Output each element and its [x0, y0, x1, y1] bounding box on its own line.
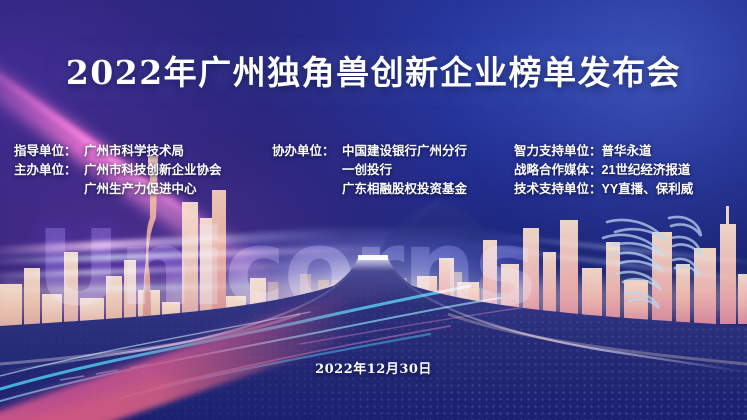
sponsor-label: 战略合作媒体： [514, 161, 602, 180]
sponsor-label: 技术支持单位： [514, 180, 602, 199]
sponsor-column-organizers: 指导单位： 广州市科学技术局 主办单位： 广州市科技创新企业协会 广州生产力促进… [14, 142, 272, 199]
sponsor-value: 普华永道 [602, 142, 652, 161]
poster-canvas: Unicorns Unicorns [0, 0, 747, 420]
sponsor-row: 广东相融股权投资基金 [272, 180, 514, 199]
sponsor-row: 技术支持单位： YY直播、保利威 [514, 180, 693, 199]
sponsor-column-co-organizers: 协办单位： 中国建设银行广州分行 一创投行 广东相融股权投资基金 [272, 142, 514, 199]
sponsor-credits: 指导单位： 广州市科学技术局 主办单位： 广州市科技创新企业协会 广州生产力促进… [0, 142, 747, 199]
sponsor-value: 广州生产力促进中心 [84, 180, 197, 199]
sponsor-label: 指导单位： [14, 142, 84, 161]
sponsor-column-support: 智力支持单位： 普华永道 战略合作媒体： 21世纪经济报道 技术支持单位： YY… [514, 142, 693, 199]
sponsor-value: 中国建设银行广州分行 [342, 142, 467, 161]
sponsor-row: 一创投行 [272, 161, 514, 180]
sponsor-row: 智力支持单位： 普华永道 [514, 142, 693, 161]
halftone-dot-texture [0, 270, 747, 420]
sponsor-value: 广州市科技创新企业协会 [84, 161, 222, 180]
sponsor-label: 协办单位： [272, 142, 342, 161]
sponsor-row: 战略合作媒体： 21世纪经济报道 [514, 161, 693, 180]
page-title: 2022年广州独角兽创新企业榜单发布会 [0, 46, 747, 94]
sponsor-value: YY直播、保利威 [602, 180, 694, 199]
sponsor-value: 广州市科学技术局 [84, 142, 184, 161]
sponsor-value: 21世纪经济报道 [602, 161, 691, 180]
sponsor-row: 广州生产力促进中心 [14, 180, 272, 199]
event-date: 2022年12月30日 [0, 358, 747, 377]
sponsor-label: 主办单位： [14, 161, 84, 180]
sponsor-value: 一创投行 [342, 161, 392, 180]
sponsor-label [272, 161, 342, 180]
sponsor-label [14, 180, 84, 199]
sponsor-value: 广东相融股权投资基金 [342, 180, 467, 199]
sponsor-label [272, 180, 342, 199]
sponsor-row: 指导单位： 广州市科学技术局 [14, 142, 272, 161]
sponsor-label: 智力支持单位： [514, 142, 602, 161]
sponsor-row: 主办单位： 广州市科技创新企业协会 [14, 161, 272, 180]
sponsor-row: 协办单位： 中国建设银行广州分行 [272, 142, 514, 161]
